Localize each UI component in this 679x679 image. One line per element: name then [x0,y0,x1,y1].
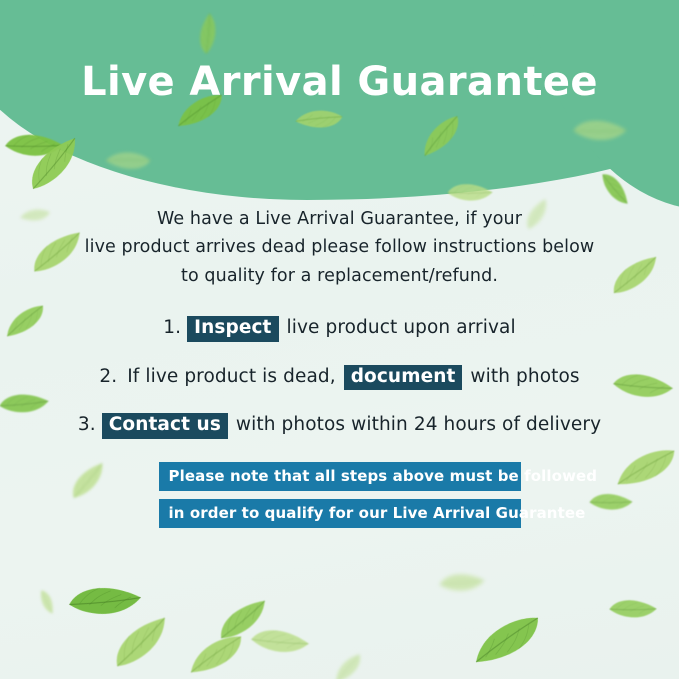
live-arrival-guarantee-poster: Live Arrival Guarantee We have a Live Ar… [0,0,679,679]
leaf-icon [328,652,368,679]
intro-paragraph: We have a Live Arrival Guarantee, if you… [80,205,600,290]
step-text-after-3: with photos within 24 hours of delivery [236,414,601,435]
leaf-icon [183,633,248,677]
note-line-2: in order to qualify for our Live Arrival… [159,499,521,528]
leaf-icon [608,591,659,627]
step-highlight-contact-us: Contact us [102,413,228,439]
step-text-before-2: If live product is dead, [127,366,336,387]
intro-line-1: We have a Live Arrival Guarantee, if you… [157,209,522,229]
note-line-1: Please note that all steps above must be… [159,462,521,491]
step-number-2: 2. [99,366,117,387]
step-text-after-1: live product upon arrival [287,317,516,338]
step-number-3: 3. [78,414,96,435]
leaf-icon [40,589,54,616]
leaf-icon [438,567,486,599]
note-banner: Please note that all steps above must be… [0,462,679,528]
step-highlight-inspect: Inspect [187,316,278,342]
leaf-icon [67,576,143,627]
intro-line-2: live product arrives dead please follow … [85,237,595,257]
step-number-1: 1. [163,317,181,338]
leaf-icon [104,614,177,671]
step-highlight-document: document [344,365,463,391]
steps-list: 1.Inspect live product upon arrival 2. I… [0,316,679,439]
leaf-icon [212,597,274,642]
page-title: Live Arrival Guarantee [0,60,679,104]
leaf-icon [467,613,548,667]
step-text-after-2: with photos [470,366,579,387]
step-item-2: 2. If live product is dead, document wit… [0,365,679,391]
step-item-3: 3.Contact us with photos within 24 hours… [0,413,679,439]
leaf-icon [249,617,311,665]
step-item-1: 1.Inspect live product upon arrival [0,316,679,342]
intro-line-3: to quality for a replacement/refund. [181,266,498,286]
main-content: We have a Live Arrival Guarantee, if you… [0,205,679,536]
